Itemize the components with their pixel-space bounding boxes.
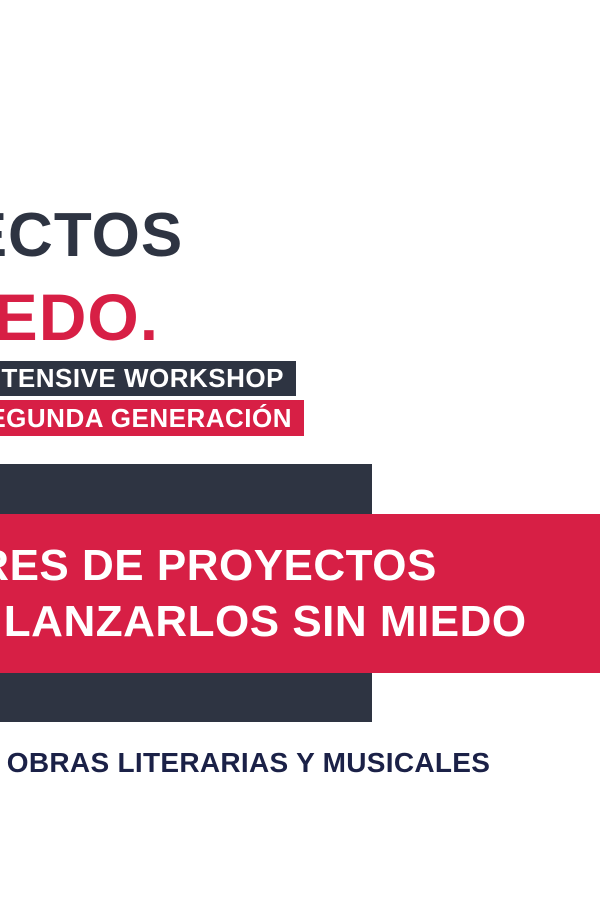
category-strip: OBRAS DE ARTE|OBRAS LITERARIAS Y MUSICAL… xyxy=(0,744,600,782)
badge-segunda-generacion: SEGUNDA GENERACIÓN xyxy=(0,400,304,436)
decorative-slab-bottom xyxy=(0,673,372,722)
category-separator: | xyxy=(0,747,7,778)
badge-intensive-workshop: INTENSIVE WORKSHOP xyxy=(0,361,296,396)
poster-content-card: PROYECTOS SIN MIEDO. INTENSIVE WORKSHOP … xyxy=(0,0,600,823)
callout-band: 100 CREADORES DE PROYECTOS APRENDAN A LA… xyxy=(0,514,600,673)
badge-segunda-generacion-label: SEGUNDA GENERACIÓN xyxy=(0,403,292,434)
callout-line-2: APRENDAN A LANZARLOS SIN MIEDO xyxy=(0,594,600,650)
decorative-slab-top xyxy=(0,464,372,514)
page-background-below-card xyxy=(0,823,600,901)
badge-intensive-workshop-label: INTENSIVE WORKSHOP xyxy=(0,363,284,394)
poster-page: PROYECTOS SIN MIEDO. INTENSIVE WORKSHOP … xyxy=(0,0,600,901)
callout-line-1: 100 CREADORES DE PROYECTOS xyxy=(0,538,600,594)
headline-line-accent: SIN MIEDO. xyxy=(0,276,600,358)
category-item-2: OBRAS LITERARIAS Y MUSICALES xyxy=(7,747,490,778)
headline-line-primary: PROYECTOS xyxy=(0,196,600,276)
poster-headline: PROYECTOS SIN MIEDO. xyxy=(0,196,600,358)
